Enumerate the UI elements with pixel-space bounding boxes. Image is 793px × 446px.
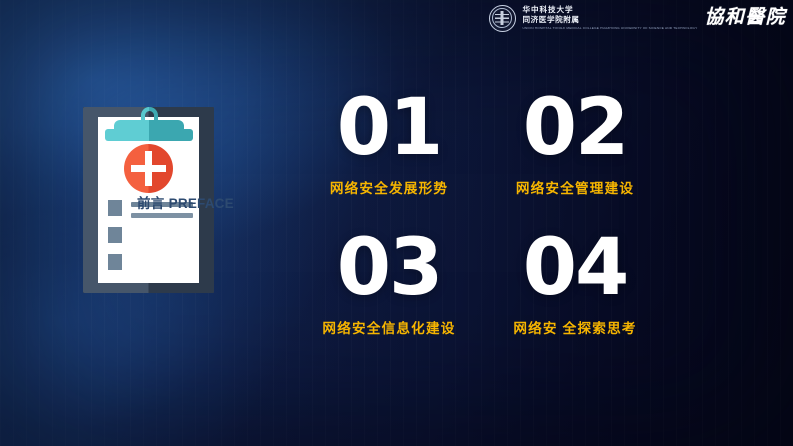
preface-title-en: PREFACE bbox=[169, 196, 234, 211]
agenda-number-02: 02 bbox=[482, 86, 668, 170]
checkbox-icon bbox=[108, 200, 122, 216]
checkbox-icon bbox=[108, 254, 122, 270]
presentation-slide: 华中科技大学 同济医学院附属 UNION HOSPITAL TONGJI MED… bbox=[0, 0, 793, 446]
clipboard-clip-top bbox=[114, 120, 184, 139]
seal-inner-glyph bbox=[495, 11, 510, 26]
preface-title: 前言 PREFACE bbox=[137, 196, 234, 211]
logo-college-name: 同济医学院附属 bbox=[523, 16, 698, 25]
agenda-number-04: 04 bbox=[482, 226, 668, 310]
logo-university-name: 华中科技大学 bbox=[523, 6, 698, 15]
agenda-item-01[interactable]: 01 网络安全发展形势 bbox=[296, 86, 482, 197]
logo-hospital-calligraphy: 協和醫院 bbox=[704, 7, 786, 29]
text-line-placeholder bbox=[131, 213, 193, 218]
agenda-item-03[interactable]: 03 网络安全信息化建设 bbox=[296, 226, 482, 337]
logo-text-block: 华中科技大学 同济医学院附属 UNION HOSPITAL TONGJI MED… bbox=[523, 6, 698, 30]
agenda-list: 01 网络安全发展形势 02 网络安全管理建设 03 网络安全信息化建设 04 … bbox=[296, 86, 688, 366]
university-seal-icon bbox=[489, 5, 516, 32]
hospital-logo: 华中科技大学 同济医学院附属 UNION HOSPITAL TONGJI MED… bbox=[489, 3, 786, 33]
agenda-number-03: 03 bbox=[296, 226, 482, 310]
logo-english-name: UNION HOSPITAL TONGJI MEDICAL COLLEGE HU… bbox=[523, 26, 698, 30]
agenda-number-01: 01 bbox=[296, 86, 482, 170]
preface-title-cn: 前言 bbox=[137, 196, 165, 211]
agenda-label-04: 网络安 全探索思考 bbox=[482, 320, 668, 337]
agenda-label-02: 网络安全管理建设 bbox=[482, 180, 668, 197]
medical-cross-horizontal bbox=[131, 165, 166, 172]
agenda-item-04[interactable]: 04 网络安 全探索思考 bbox=[482, 226, 668, 337]
checkbox-icon bbox=[108, 227, 122, 243]
agenda-item-02[interactable]: 02 网络安全管理建设 bbox=[482, 86, 668, 197]
agenda-label-01: 网络安全发展形势 bbox=[296, 180, 482, 197]
agenda-label-03: 网络安全信息化建设 bbox=[296, 320, 482, 337]
